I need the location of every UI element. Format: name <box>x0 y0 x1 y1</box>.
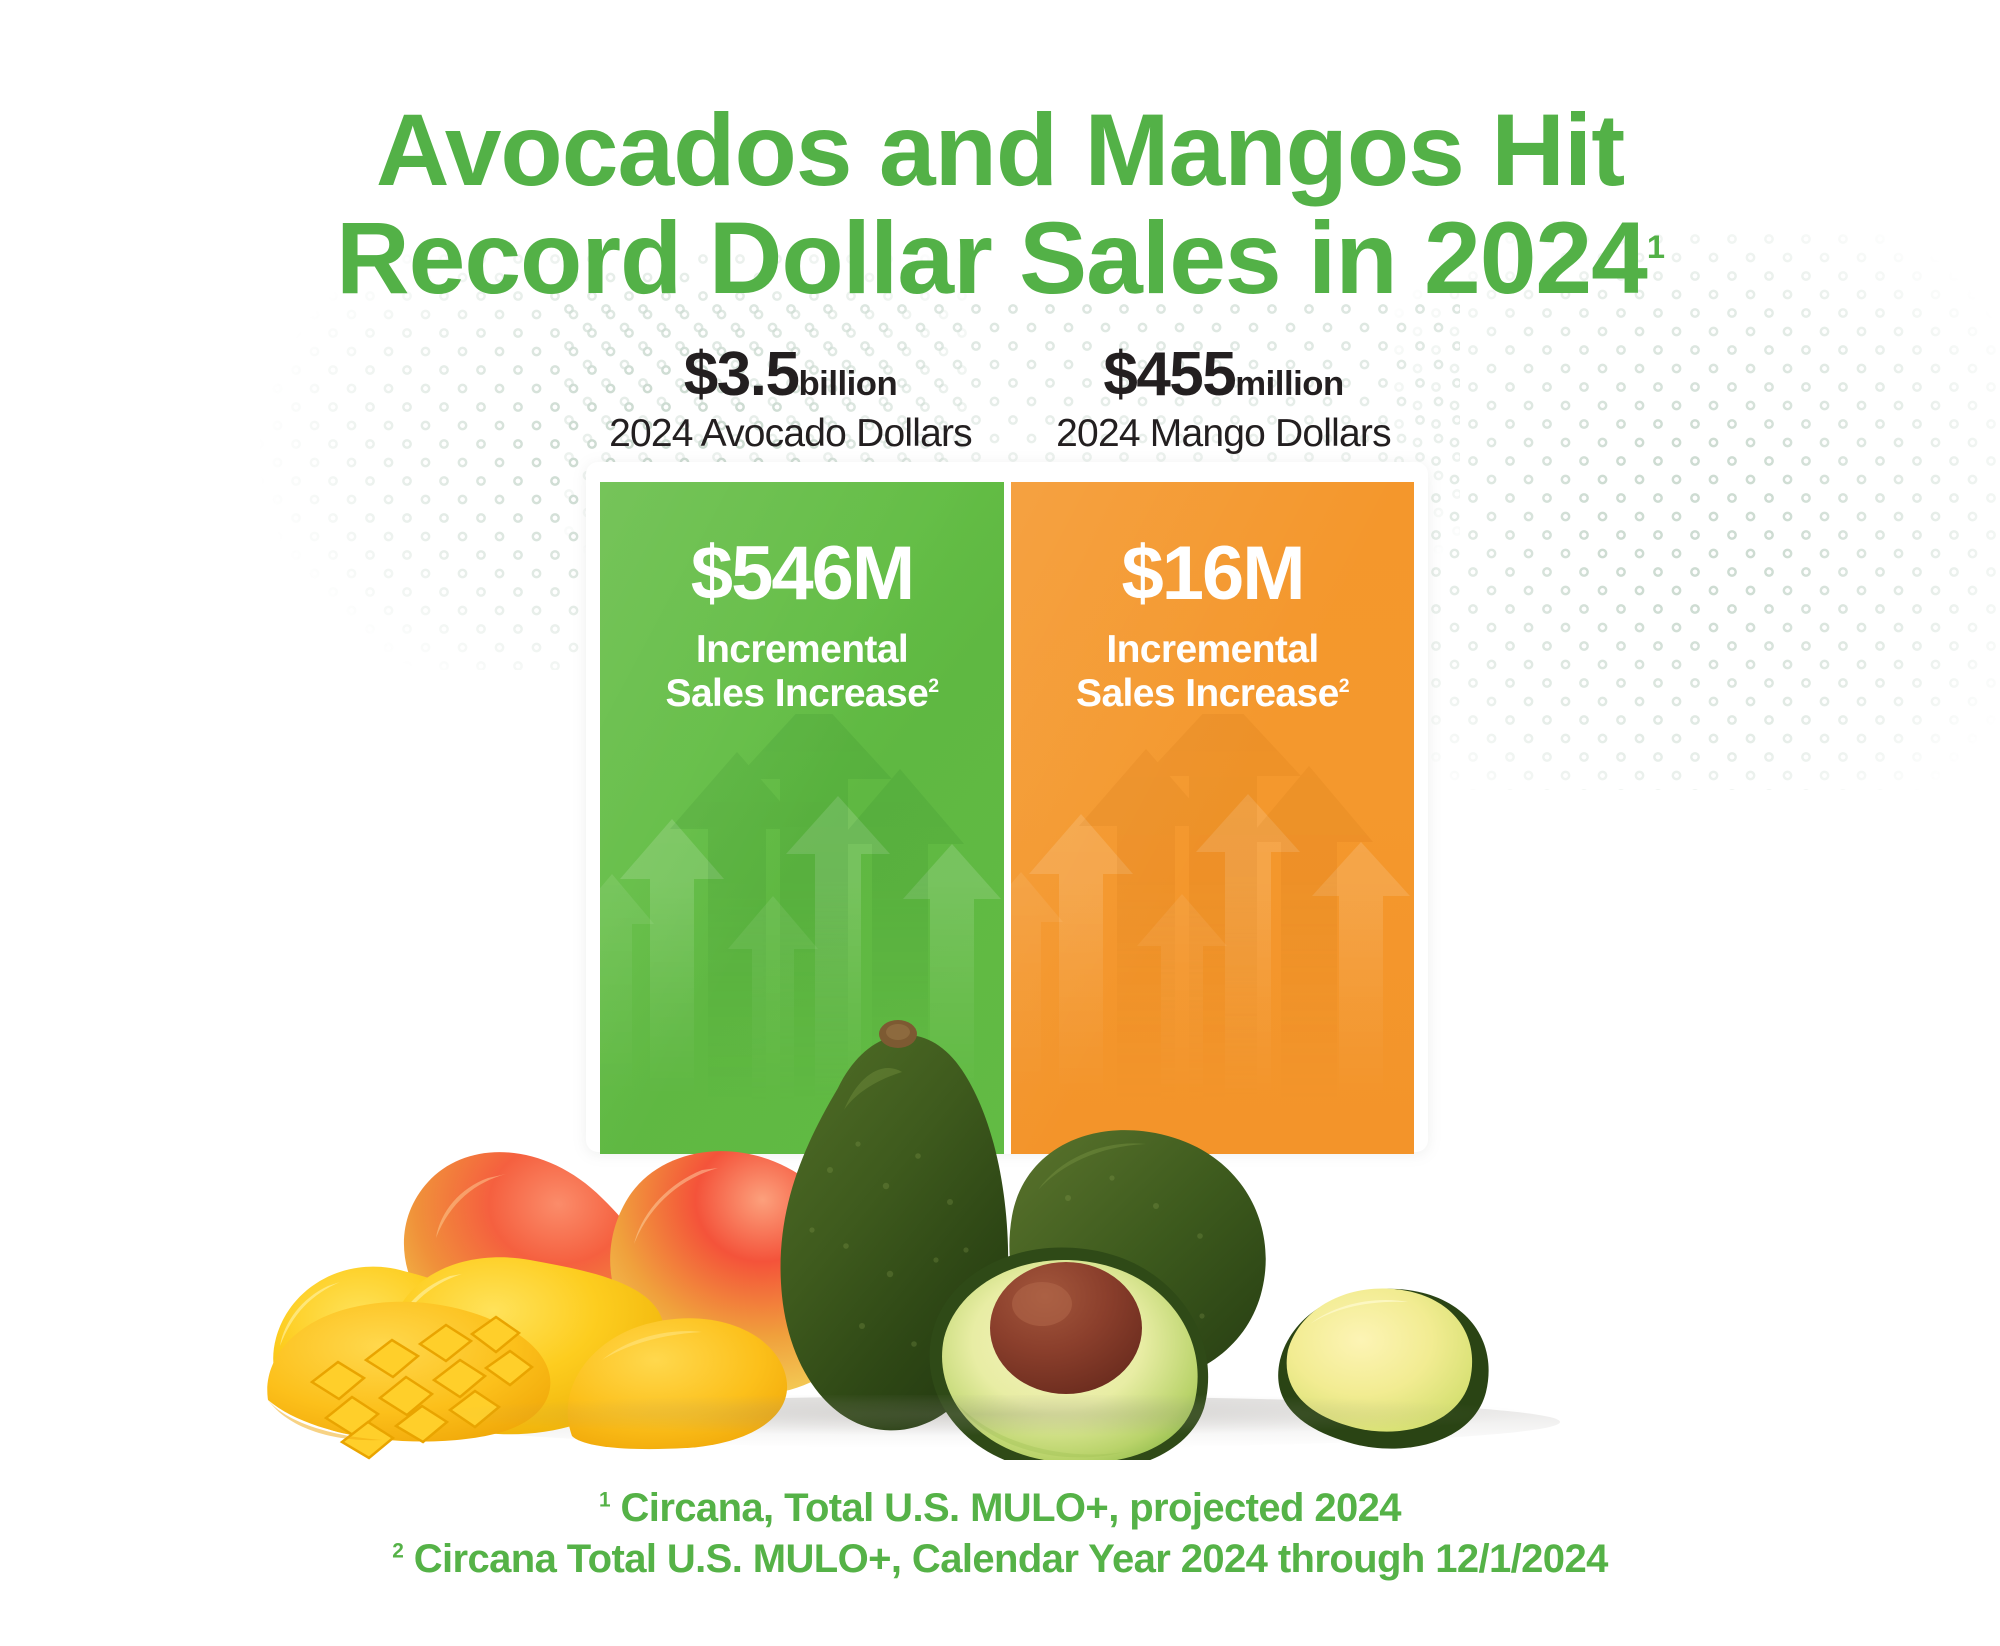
bar-avocado: $546M Incremental Sales Increase2 <box>600 482 1004 1154</box>
bar-avocado-value: $546M <box>600 536 1004 612</box>
page-title-text: Avocados and Mangos Hit Record Dollar Sa… <box>336 93 1647 315</box>
stat-mango-caption: 2024 Mango Dollars <box>1021 414 1426 455</box>
mango-wedge-slice <box>568 1318 787 1449</box>
footnote-1: 1 Circana, Total U.S. MULO+, projected 2… <box>0 1483 2000 1534</box>
footnote-2: 2 Circana Total U.S. MULO+, Calendar Yea… <box>0 1534 2000 1585</box>
bar-mango-label-text: Incremental Sales Increase <box>1076 628 1339 715</box>
stat-avocado: $3.5billion 2024 Avocado Dollars <box>588 344 993 455</box>
stat-avocado-amount: $3.5billion <box>588 344 993 406</box>
bar-mango-value: $16M <box>1011 536 1414 612</box>
bar-avocado-footnote-marker: 2 <box>928 675 938 697</box>
footnote-1-text: Circana, Total U.S. MULO+, projected 202… <box>621 1486 1401 1530</box>
infographic-canvas: Avocados and Mangos Hit Record Dollar Sa… <box>0 0 2000 1646</box>
stat-summary-row: $3.5billion 2024 Avocado Dollars $455mil… <box>588 344 1428 455</box>
bar-avocado-label-text: Incremental Sales Increase <box>666 628 929 715</box>
stat-avocado-amount-unit: billion <box>798 365 897 403</box>
bar-avocado-text: $546M Incremental Sales Increase2 <box>600 536 1004 716</box>
bar-chart: $546M Incremental Sales Increase2 <box>600 482 1414 1154</box>
footnote-2-text: Circana Total U.S. MULO+, Calendar Year … <box>414 1537 1608 1581</box>
mango-yellow-center <box>389 1257 665 1434</box>
mango-back-left <box>404 1152 653 1369</box>
stat-mango-amount-unit: million <box>1235 365 1343 403</box>
mango-back-center <box>610 1151 873 1394</box>
fruit-ground-shadow <box>270 1395 1700 1441</box>
avocado-whole-round <box>1009 1130 1265 1384</box>
bar-mango-text: $16M Incremental Sales Increase2 <box>1011 536 1414 716</box>
page-title-footnote-marker: 1 <box>1647 228 1664 265</box>
stat-mango-amount: $455million <box>1021 344 1426 406</box>
stat-avocado-caption: 2024 Avocado Dollars <box>588 414 993 455</box>
upward-arrows-icon-group-mango <box>1011 714 1414 1154</box>
avocado-half-with-pit <box>930 1248 1209 1460</box>
footnote-2-marker: 2 <box>392 1540 403 1563</box>
page-title: Avocados and Mangos Hit Record Dollar Sa… <box>0 96 2000 312</box>
bar-divider <box>1004 482 1011 1154</box>
stat-mango-amount-value: $455 <box>1103 340 1235 409</box>
avocado-slice-wedge <box>1278 1289 1488 1449</box>
footnote-1-marker: 1 <box>599 1489 610 1512</box>
bar-avocado-label: Incremental Sales Increase2 <box>600 628 1004 716</box>
mango-hedgehog-cut <box>267 1302 550 1458</box>
footnotes: 1 Circana, Total U.S. MULO+, projected 2… <box>0 1483 2000 1585</box>
bar-mango: $16M Incremental Sales Increase2 <box>1011 482 1414 1154</box>
bar-mango-footnote-marker: 2 <box>1339 675 1349 697</box>
stat-mango: $455million 2024 Mango Dollars <box>1021 344 1426 455</box>
upward-arrows-icon-group-avocado <box>600 714 1004 1154</box>
bar-mango-label: Incremental Sales Increase2 <box>1011 628 1414 716</box>
stat-avocado-amount-value: $3.5 <box>684 340 799 409</box>
mango-yellow-left <box>273 1267 502 1437</box>
